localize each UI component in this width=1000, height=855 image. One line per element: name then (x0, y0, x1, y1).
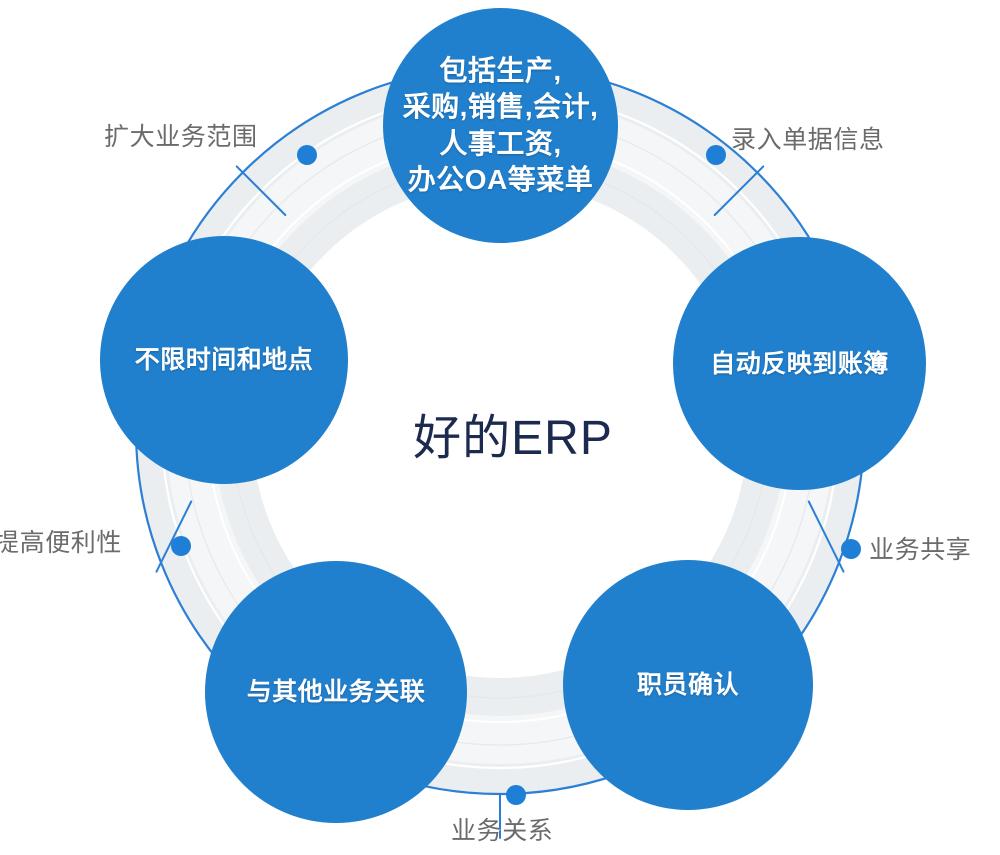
node-label-right: 自动反映到账簿 (704, 348, 895, 380)
outer-label-relation: 业务关系 (451, 811, 553, 847)
node-label-bottom-right: 职员确认 (631, 669, 745, 701)
node-circle-left[interactable]: 不限时间和地点 (100, 236, 348, 484)
dot-expand-icon[interactable] (297, 145, 317, 165)
outer-label-convenience: 提高便利性 (0, 523, 122, 559)
node-circle-top[interactable]: 包括生产, 采购,销售,会计, 人事工资, 办公OA等菜单 (383, 8, 618, 243)
node-label-top: 包括生产, 采购,销售,会计, 人事工资, 办公OA等菜单 (397, 53, 605, 199)
center-title-text: 好的ERP (413, 398, 613, 468)
node-label-bottom-left: 与其他业务关联 (241, 676, 432, 708)
outer-label-entry: 录入单据信息 (731, 120, 885, 156)
outer-label-expand: 扩大业务范围 (104, 117, 258, 153)
dot-convenience-icon[interactable] (171, 536, 191, 556)
dot-relation-icon[interactable] (506, 785, 526, 805)
outer-label-share: 业务共享 (869, 530, 971, 566)
dot-entry-icon[interactable] (706, 145, 726, 165)
node-circle-bottom-right[interactable]: 职员确认 (563, 560, 813, 810)
node-circle-bottom-left[interactable]: 与其他业务关联 (205, 561, 467, 823)
node-circle-right[interactable]: 自动反映到账簿 (673, 237, 926, 490)
dot-share-icon[interactable] (841, 539, 861, 559)
node-label-left: 不限时间和地点 (129, 344, 320, 376)
erp-cycle-diagram: 好的ERP 包括生产, 采购,销售,会计, 人事工资, 办公OA等菜单 自动反映… (0, 0, 1000, 855)
